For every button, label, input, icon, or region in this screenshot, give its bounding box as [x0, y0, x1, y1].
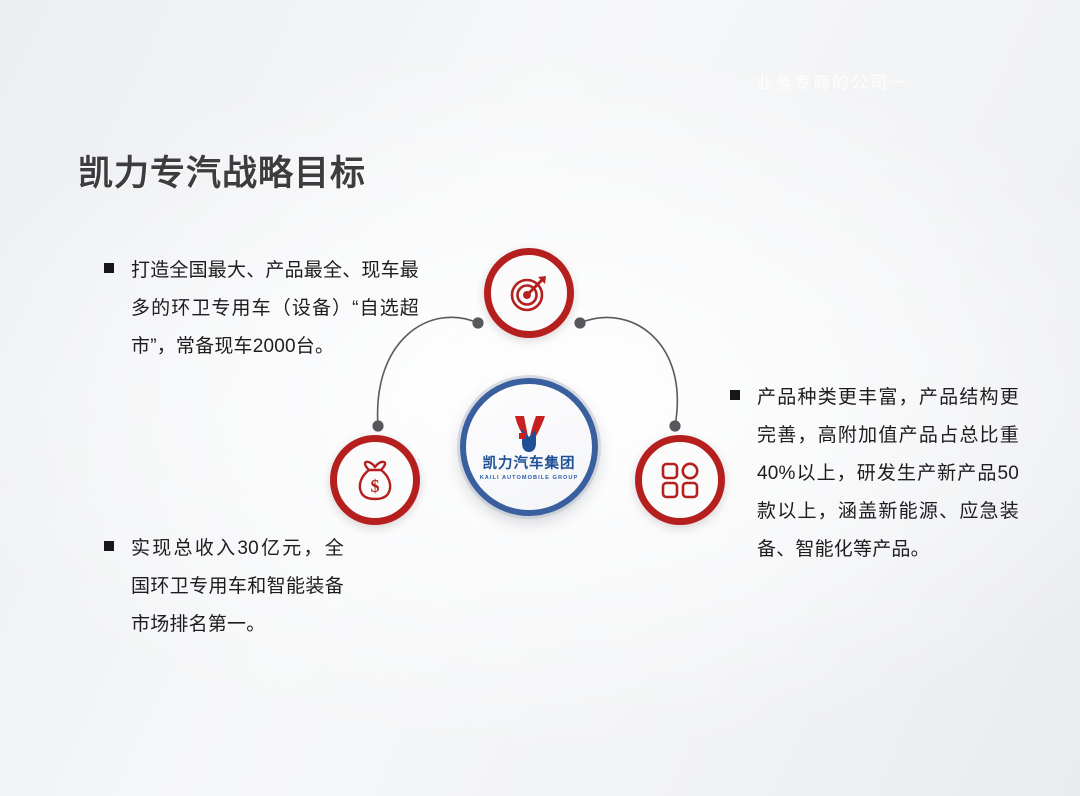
connector-dot-right-lower [669, 420, 680, 431]
bullet-product-portfolio-text: 产品种类更丰富，产品结构更完善，高附加值产品占总比重40%以上，研发生产新产品5… [757, 379, 1019, 569]
slide-title: 凯力专汽战略目标 [78, 145, 366, 196]
connector-arc-right [580, 317, 677, 426]
diagram-node-target[interactable] [484, 248, 574, 338]
connector-dot-left-upper [472, 317, 483, 328]
watermark-text: 业务专商的公司一 [756, 68, 1056, 93]
kaili-shield-logo-icon [509, 413, 549, 455]
hub-company-name-cn: 凯力汽车集团 [483, 457, 576, 473]
square-bullet-icon [104, 541, 114, 551]
connector-dot-right-upper [574, 317, 585, 328]
diagram-hub-company-logo[interactable]: 凯力汽车集团 KAILI AUTOMOBILE GROUP [460, 378, 598, 516]
connector-dot-left-lower [372, 420, 383, 431]
money-bag-icon: $ [352, 457, 398, 503]
square-bullet-icon [104, 263, 114, 273]
target-bullseye-icon [506, 270, 552, 316]
diagram-node-revenue[interactable]: $ [330, 435, 420, 525]
diagram-node-portfolio[interactable] [635, 435, 725, 525]
presentation-slide: 业务专商的公司一 凯力专汽战略目标 打造全国最大、产品最全、现车最多的环卫专用车… [0, 0, 1080, 796]
svg-text:$: $ [371, 476, 380, 496]
connector-arc-left [378, 317, 478, 426]
strategy-hub-diagram: $ 凯力汽车集团 KAILI AUTOMOBI [300, 230, 780, 560]
hub-company-name-en: KAILI AUTOMOBILE GROUP [480, 475, 579, 481]
grid-categories-icon [657, 457, 703, 503]
